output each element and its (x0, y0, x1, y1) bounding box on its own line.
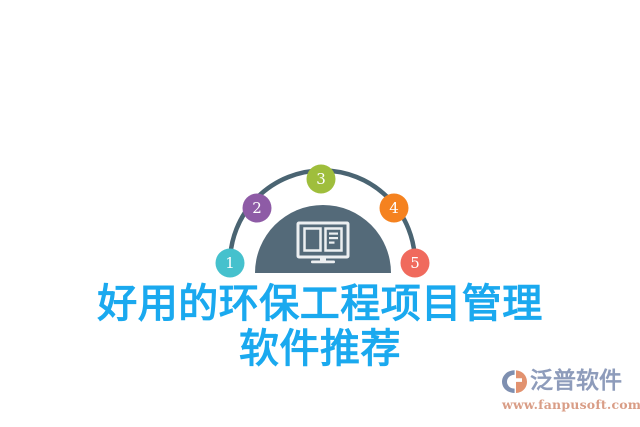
brand-name: 泛普软件 (530, 367, 622, 395)
step-number-4: 4 (389, 199, 399, 217)
title-line-1: 好用的环保工程项目管理 (0, 282, 640, 327)
step-node-4[interactable]: 4 (380, 194, 409, 223)
step-node-2[interactable]: 2 (243, 194, 272, 223)
step-node-1[interactable]: 1 (216, 249, 245, 278)
fanpu-logo-icon (500, 368, 528, 395)
step-number-5: 5 (410, 254, 420, 272)
brand-url: www.fanpusoft.com (502, 397, 640, 412)
brand-watermark: 泛普软件 www.fanpusoft.com (500, 366, 636, 416)
semicircle-step-diagram: 1 2 3 4 5 (185, 155, 455, 280)
step-number-1: 1 (225, 254, 235, 272)
page-canvas: 1 2 3 4 5 好用的环保工程 (0, 0, 640, 427)
page-title: 好用的环保工程项目管理 软件推荐 (0, 282, 640, 372)
step-node-5[interactable]: 5 (401, 249, 430, 278)
step-node-3[interactable]: 3 (307, 165, 336, 194)
title-line-2: 软件推荐 (0, 327, 640, 372)
step-number-3: 3 (316, 170, 326, 188)
step-number-2: 2 (252, 199, 262, 217)
logo-row: 泛普软件 (500, 366, 622, 396)
